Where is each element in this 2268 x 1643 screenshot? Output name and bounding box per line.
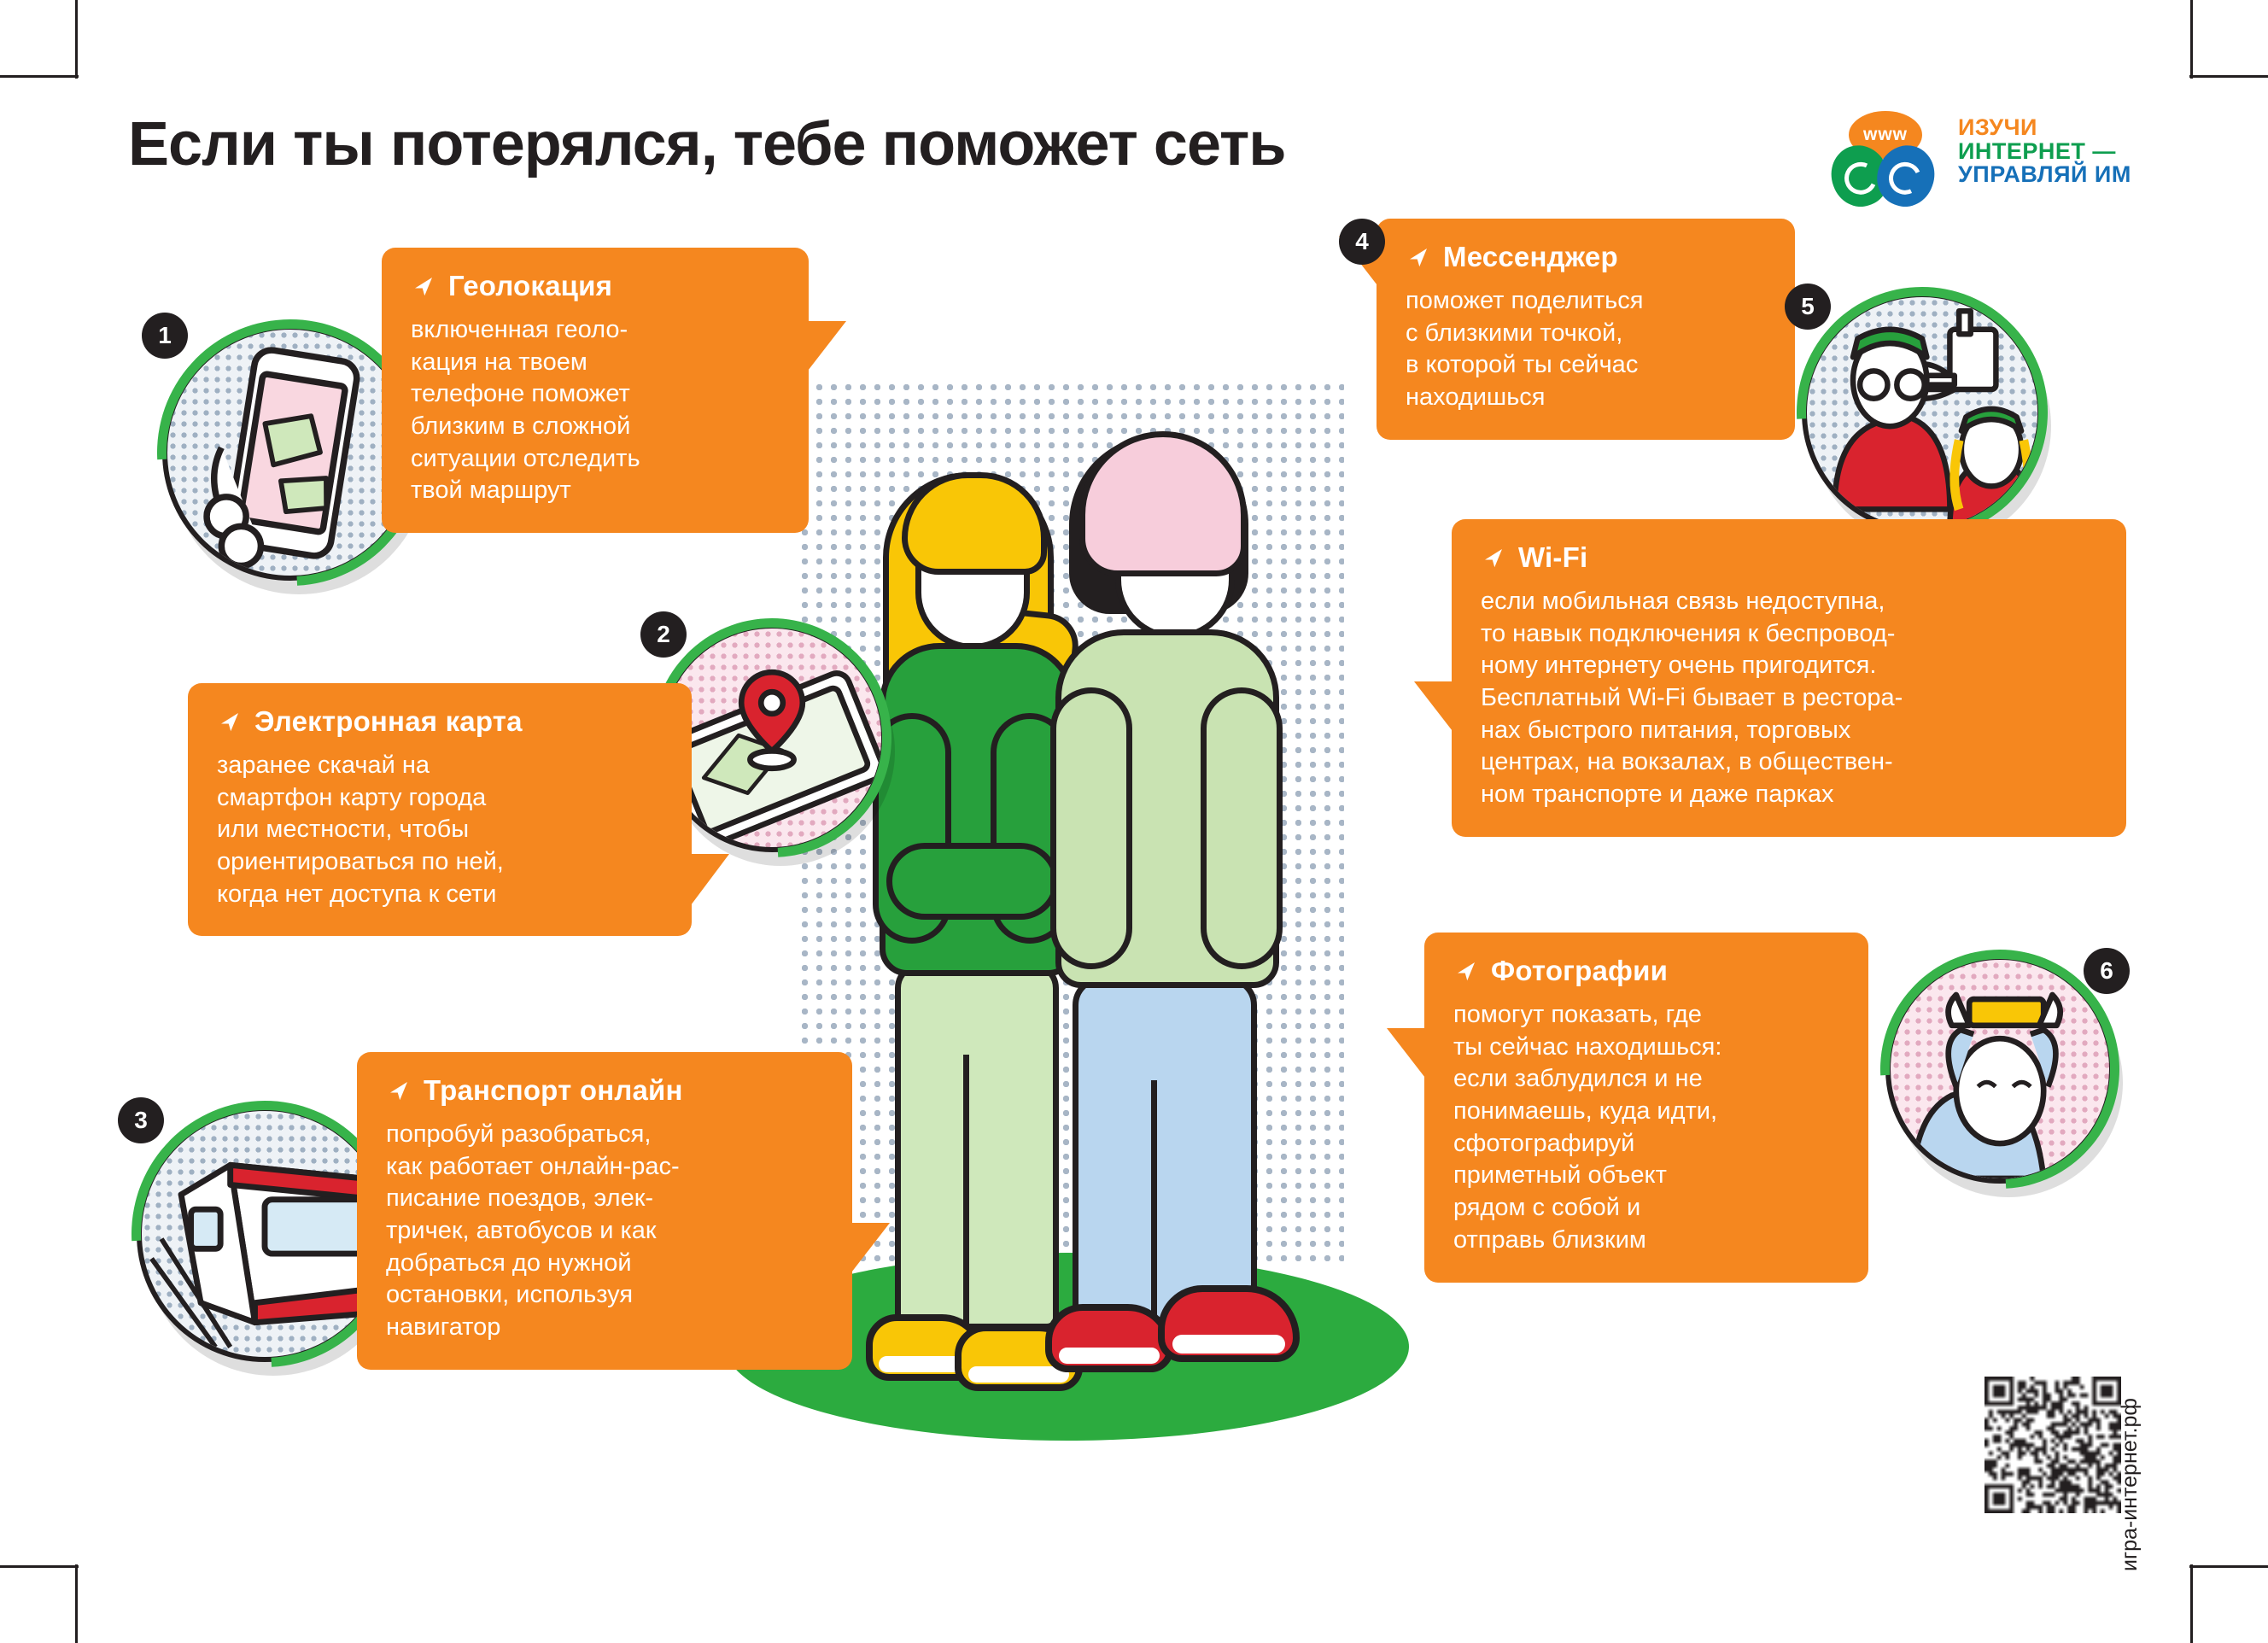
card-1-header: Геолокация: [411, 270, 780, 302]
logo-line-1: ИЗУЧИ: [1958, 116, 2131, 140]
circle-3-badge: 3: [118, 1097, 164, 1143]
card-wifi[interactable]: Wi-Fi если мобильная связь недоступна, т…: [1452, 519, 2126, 837]
brand-logo: www ИЗУЧИ ИНТЕРНЕТ — УПРАВЛЯЙ ИМ: [1832, 111, 2156, 209]
cursor-arrow-icon: [386, 1078, 412, 1103]
card-1-body: включенная геоло- кация на твоем телефон…: [411, 314, 780, 507]
crop-mark-bottom-left-h: [0, 1565, 79, 1568]
circle-1-badge: 1: [142, 313, 188, 359]
cursor-arrow-icon: [1406, 244, 1431, 270]
card-electronic-map[interactable]: Электронная карта заранее скачай на смар…: [188, 683, 692, 936]
qr-code[interactable]: [1984, 1377, 2121, 1513]
card-1-title: Геолокация: [448, 270, 612, 302]
card-2-body: заранее скачай на смартфон карту города …: [217, 750, 663, 910]
card-5-title: Wi-Fi: [1518, 541, 1587, 574]
card-transport-online[interactable]: Транспорт онлайн попробуй разобраться, к…: [357, 1052, 852, 1370]
vertical-site-url: игра-интернет.рф: [2118, 1398, 2142, 1571]
card-photos[interactable]: Фотографии помогут показать, где ты сейч…: [1424, 933, 1868, 1283]
card-1-tail: [805, 321, 846, 374]
card-2-tail: [688, 854, 729, 909]
illustration-circle-6: 6: [1885, 955, 2114, 1184]
crop-mark-top-right-h: [2189, 75, 2268, 78]
crop-mark-bottom-right-h: [2189, 1565, 2268, 1568]
logo-wordmark: ИЗУЧИ ИНТЕРНЕТ — УПРАВЛЯЙ ИМ: [1958, 116, 2131, 187]
logo-mark-icon: www: [1832, 111, 1934, 207]
illustration-circle-5: 5: [1802, 292, 2043, 533]
card-5-body: если мобильная связь недоступна, то навы…: [1481, 586, 2097, 811]
card-5-header: Wi-Fi: [1481, 541, 2097, 574]
circle-4-badge: 4: [1339, 219, 1385, 265]
cursor-arrow-icon: [1481, 545, 1506, 570]
card-2-title: Электронная карта: [254, 705, 523, 738]
card-messenger[interactable]: Мессенджер поможет поделиться с близкими…: [1377, 219, 1795, 440]
card-6-body: помогут показать, где ты сейчас находишь…: [1453, 999, 1839, 1257]
page-title: Если ты потерялся, тебе поможет сеть: [128, 109, 1286, 179]
cursor-arrow-icon: [217, 709, 243, 734]
boy-figure: [1050, 431, 1306, 1430]
crop-mark-top-left-v: [75, 0, 78, 79]
crop-mark-bottom-left-v: [75, 1564, 78, 1643]
poster-canvas: Если ты потерялся, тебе поможет сеть www…: [0, 0, 2268, 1643]
logo-line-3: УПРАВЛЯЙ ИМ: [1958, 163, 2131, 187]
card-3-body: попробуй разобраться, как работает онлай…: [386, 1119, 823, 1344]
circle-6-badge: 6: [2084, 948, 2130, 994]
crop-mark-top-right-v: [2190, 0, 2193, 79]
crop-mark-bottom-right-v: [2190, 1564, 2193, 1643]
card-3-tail: [849, 1223, 890, 1276]
card-4-title: Мессенджер: [1443, 241, 1618, 273]
cursor-arrow-icon: [1453, 958, 1479, 984]
card-2-header: Электронная карта: [217, 705, 663, 738]
illustration-circle-3: 3: [137, 1106, 393, 1362]
card-3-header: Транспорт онлайн: [386, 1074, 823, 1107]
card-6-title: Фотографии: [1491, 955, 1668, 987]
card-5-tail: [1414, 681, 1455, 734]
illustration-circle-2: 2: [658, 623, 886, 852]
card-6-tail: [1387, 1028, 1428, 1081]
illustration-circle-1: 1: [162, 325, 418, 581]
card-6-header: Фотографии: [1453, 955, 1839, 987]
card-4-header: Мессенджер: [1406, 241, 1766, 273]
crop-mark-top-left-h: [0, 75, 79, 78]
logo-line-2: ИНТЕРНЕТ —: [1958, 140, 2131, 164]
cursor-arrow-icon: [411, 273, 436, 299]
circle-2-badge: 2: [640, 611, 687, 658]
card-4-body: поможет поделиться с близкими точкой, в …: [1406, 285, 1766, 414]
card-3-title: Транспорт онлайн: [424, 1074, 683, 1107]
circle-5-badge: 5: [1785, 284, 1831, 330]
card-geolocation[interactable]: Геолокация включенная геоло- кация на тв…: [382, 248, 809, 533]
